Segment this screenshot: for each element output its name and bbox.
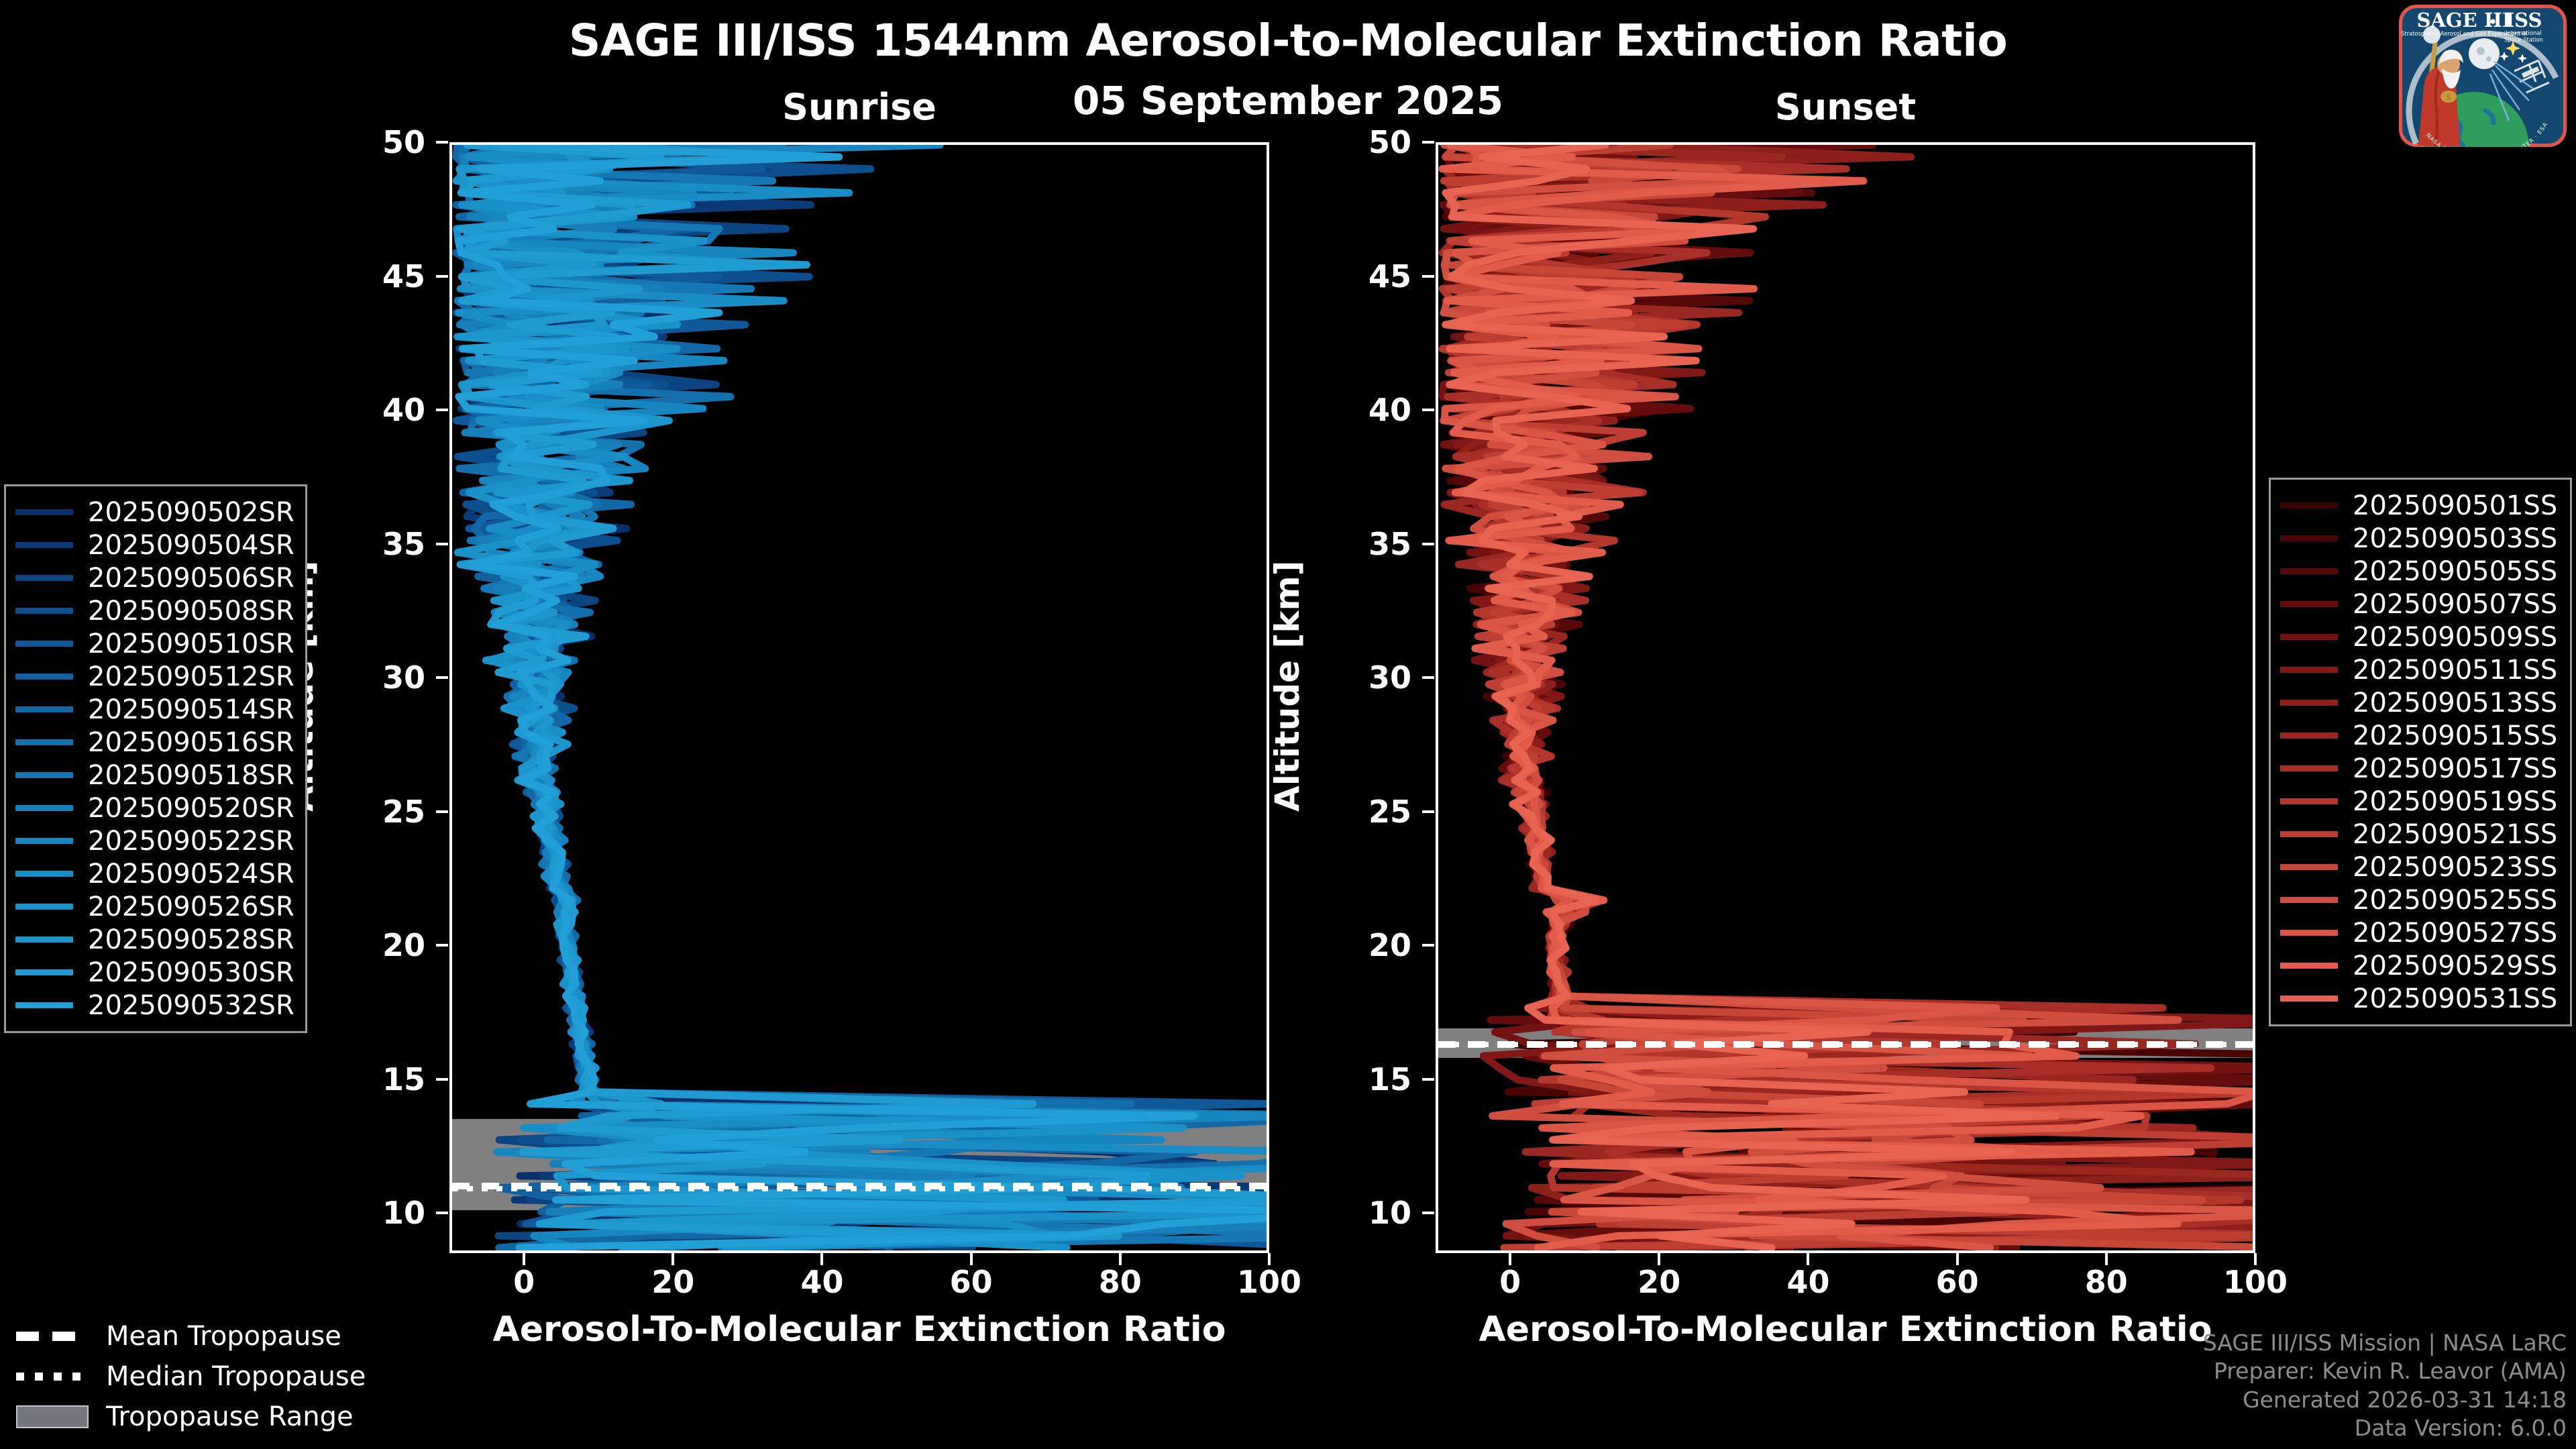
legend-item-2025090521SS[interactable]: 2025090521SS xyxy=(2280,818,2559,851)
y-tick-mark-sunset-35 xyxy=(1422,543,1434,545)
legend-item-2025090528SR[interactable]: 2025090528SR xyxy=(15,923,294,956)
legend-item-2025090507SS[interactable]: 2025090507SS xyxy=(2280,588,2559,621)
legend-sunrise[interactable]: 2025090502SR2025090504SR2025090506SR2025… xyxy=(4,484,307,1033)
legend-item-label: 2025090502SR xyxy=(88,497,294,528)
y-tick-mark-sunrise-45 xyxy=(436,275,448,278)
tropopause-legend-item-1: Median Tropopause xyxy=(16,1356,366,1397)
legend-item-label: 2025090515SS xyxy=(2353,720,2557,751)
panel-title-sunrise: Sunrise xyxy=(449,86,1269,128)
legend-item-label: 2025090524SR xyxy=(88,859,294,890)
y-tick-mark-sunrise-50 xyxy=(436,141,448,144)
legend-item-2025090524SR[interactable]: 2025090524SR xyxy=(15,857,294,890)
x-tick-label-sunrise-40: 40 xyxy=(768,1264,875,1300)
legend-item-2025090517SS[interactable]: 2025090517SS xyxy=(2280,752,2559,785)
x-tick-mark-sunrise-100 xyxy=(1268,1253,1271,1265)
legend-color-swatch xyxy=(15,608,73,614)
legend-item-label: 2025090529SS xyxy=(2353,951,2557,981)
plot-area-sunset xyxy=(1438,145,2253,1250)
legend-item-2025090522SR[interactable]: 2025090522SR xyxy=(15,824,294,857)
legend-item-label: 2025090527SS xyxy=(2353,918,2557,949)
legend-item-label: 2025090522SR xyxy=(88,826,294,857)
legend-color-swatch xyxy=(2280,700,2338,706)
y-tick-mark-sunset-45 xyxy=(1422,275,1434,278)
x-tick-mark-sunrise-60 xyxy=(970,1253,973,1265)
tropopause-legend-item-2: Tropopause Range xyxy=(16,1397,366,1437)
legend-item-label: 2025090510SR xyxy=(88,629,294,659)
median-tropopause-dotted-line xyxy=(16,1373,89,1381)
sage-iii-iss-logo: S NASA LANGLEY RESEARCH CENTER · ESA SAG… xyxy=(2395,3,2571,149)
plot-panel-sunrise xyxy=(449,142,1269,1253)
profile-lines-sunrise xyxy=(452,145,1267,1250)
legend-color-swatch xyxy=(2280,535,2338,541)
y-tick-mark-sunrise-15 xyxy=(436,1078,448,1081)
x-tick-label-sunrise-20: 20 xyxy=(619,1264,727,1300)
legend-item-label: 2025090526SR xyxy=(88,892,294,922)
legend-color-swatch xyxy=(2280,930,2338,936)
page-title: SAGE III/ISS 1544nm Aerosol-to-Molecular… xyxy=(0,15,2576,66)
legend-color-swatch xyxy=(15,772,73,778)
legend-color-swatch xyxy=(15,838,73,844)
legend-item-label: 2025090508SR xyxy=(88,596,294,627)
legend-color-swatch xyxy=(2280,601,2338,607)
legend-item-label: 2025090512SR xyxy=(88,661,294,692)
legend-color-swatch xyxy=(15,509,73,515)
legend-item-label: 2025090519SS xyxy=(2353,786,2557,817)
x-tick-mark-sunset-20 xyxy=(1658,1253,1660,1265)
legend-item-2025090519SS[interactable]: 2025090519SS xyxy=(2280,785,2559,818)
x-tick-label-sunset-100: 100 xyxy=(2202,1264,2309,1300)
legend-item-label: 2025090532SR xyxy=(88,990,294,1021)
legend-color-swatch xyxy=(15,904,73,910)
legend-color-swatch xyxy=(2280,568,2338,574)
legend-color-swatch xyxy=(2280,963,2338,969)
x-tick-mark-sunrise-0 xyxy=(523,1253,525,1265)
tropopause-legend-item-0: Mean Tropopause xyxy=(16,1316,366,1356)
y-tick-mark-sunset-50 xyxy=(1422,141,1434,144)
svg-text:Space Station: Space Station xyxy=(2504,36,2543,43)
legend-color-swatch xyxy=(15,641,73,647)
legend-item-label: 2025090501SS xyxy=(2353,490,2557,521)
legend-color-swatch xyxy=(15,674,73,680)
y-tick-mark-sunrise-20 xyxy=(436,944,448,947)
footer-line-1: Preparer: Kevin R. Leavor (AMA) xyxy=(2203,1357,2567,1385)
legend-item-2025090503SS[interactable]: 2025090503SS xyxy=(2280,522,2559,555)
mean-tropopause-dashed-line xyxy=(16,1332,89,1341)
x-tick-label-sunrise-0: 0 xyxy=(470,1264,578,1300)
y-axis-label-sunset: Altitude [km] xyxy=(1268,560,1307,812)
y-tick-label-sunrise-35: 35 xyxy=(325,526,425,562)
x-tick-label-sunrise-100: 100 xyxy=(1216,1264,1323,1300)
y-tick-mark-sunset-20 xyxy=(1422,944,1434,947)
legend-item-label: 2025090516SR xyxy=(88,727,294,758)
legend-item-2025090501SS[interactable]: 2025090501SS xyxy=(2280,489,2559,522)
y-tick-label-sunrise-50: 50 xyxy=(325,124,425,160)
legend-item-2025090527SS[interactable]: 2025090527SS xyxy=(2280,916,2559,949)
x-tick-label-sunset-20: 20 xyxy=(1605,1264,1713,1300)
x-tick-mark-sunset-80 xyxy=(2105,1253,2108,1265)
tropopause-legend-label: Mean Tropopause xyxy=(106,1321,341,1352)
tropopause-legend-key xyxy=(16,1369,89,1384)
legend-item-2025090523SS[interactable]: 2025090523SS xyxy=(2280,851,2559,883)
legend-color-swatch xyxy=(2280,733,2338,739)
legend-color-swatch xyxy=(2280,667,2338,673)
y-tick-label-sunrise-20: 20 xyxy=(325,927,425,963)
y-tick-label-sunrise-40: 40 xyxy=(325,392,425,428)
y-tick-mark-sunrise-40 xyxy=(436,409,448,411)
legend-item-label: 2025090505SS xyxy=(2353,556,2557,587)
y-tick-mark-sunset-30 xyxy=(1422,676,1434,679)
y-tick-label-sunrise-45: 45 xyxy=(325,258,425,294)
tropopause-range-band xyxy=(16,1405,89,1428)
x-tick-mark-sunset-40 xyxy=(1807,1253,1809,1265)
x-tick-label-sunset-0: 0 xyxy=(1456,1264,1564,1300)
y-tick-label-sunset-25: 25 xyxy=(1311,794,1411,830)
legend-color-swatch xyxy=(15,969,73,975)
y-tick-label-sunset-50: 50 xyxy=(1311,124,1411,160)
x-tick-mark-sunset-60 xyxy=(1956,1253,1959,1265)
x-tick-label-sunset-60: 60 xyxy=(1904,1264,2011,1300)
y-tick-mark-sunrise-25 xyxy=(436,810,448,813)
legend-color-swatch xyxy=(15,805,73,811)
legend-color-swatch xyxy=(2280,765,2338,771)
legend-item-2025090511SS[interactable]: 2025090511SS xyxy=(2280,653,2559,686)
y-tick-mark-sunset-40 xyxy=(1422,409,1434,411)
legend-item-2025090512SR[interactable]: 2025090512SR xyxy=(15,660,294,693)
x-axis-label-sunset: Aerosol-To-Molecular Extinction Ratio xyxy=(1436,1309,2255,1350)
legend-color-swatch xyxy=(2280,897,2338,903)
svg-text:S: S xyxy=(2446,93,2451,102)
y-tick-mark-sunrise-35 xyxy=(436,543,448,545)
y-tick-label-sunset-35: 35 xyxy=(1311,526,1411,562)
legend-color-swatch xyxy=(15,871,73,877)
tropopause-legend-key xyxy=(16,1409,89,1424)
legend-color-swatch xyxy=(2280,634,2338,640)
panel-title-sunset: Sunset xyxy=(1436,86,2255,128)
plot-panel-sunset xyxy=(1436,142,2255,1253)
profile-lines-sunset xyxy=(1438,145,2253,1250)
legend-color-swatch xyxy=(15,706,73,712)
y-tick-mark-sunset-15 xyxy=(1422,1078,1434,1081)
footer-line-3: Data Version: 6.0.0 xyxy=(2203,1414,2567,1442)
legend-item-label: 2025090525SS xyxy=(2353,885,2557,916)
x-axis-label-sunrise: Aerosol-To-Molecular Extinction Ratio xyxy=(449,1309,1269,1350)
legend-item-label: 2025090514SR xyxy=(88,694,294,725)
x-tick-mark-sunset-0 xyxy=(1509,1253,1511,1265)
legend-item-2025090515SS[interactable]: 2025090515SS xyxy=(2280,719,2559,752)
y-tick-label-sunset-20: 20 xyxy=(1311,927,1411,963)
legend-color-swatch xyxy=(15,936,73,943)
x-tick-label-sunset-40: 40 xyxy=(1754,1264,1862,1300)
median-tropopause-line-sunrise xyxy=(452,1186,1267,1191)
legend-item-2025090531SS[interactable]: 2025090531SS xyxy=(2280,982,2559,1015)
y-tick-label-sunset-15: 15 xyxy=(1311,1061,1411,1097)
x-tick-label-sunrise-80: 80 xyxy=(1067,1264,1174,1300)
tropopause-legend-key xyxy=(16,1329,89,1344)
legend-color-swatch xyxy=(15,575,73,581)
x-tick-label-sunrise-60: 60 xyxy=(918,1264,1025,1300)
legend-color-swatch xyxy=(15,739,73,745)
legend-color-swatch xyxy=(15,542,73,548)
legend-item-2025090505SS[interactable]: 2025090505SS xyxy=(2280,555,2559,588)
y-tick-label-sunset-45: 45 xyxy=(1311,258,1411,294)
legend-tropopause: Mean TropopauseMedian TropopauseTropopau… xyxy=(16,1316,366,1437)
y-tick-label-sunset-10: 10 xyxy=(1311,1195,1411,1231)
y-tick-mark-sunset-10 xyxy=(1422,1212,1434,1214)
footer-line-2: Generated 2026-03-31 14:18 xyxy=(2203,1386,2567,1414)
y-tick-label-sunset-30: 30 xyxy=(1311,659,1411,696)
x-tick-label-sunset-80: 80 xyxy=(2053,1264,2160,1300)
legend-item-2025090526SR[interactable]: 2025090526SR xyxy=(15,890,294,923)
y-tick-mark-sunset-25 xyxy=(1422,810,1434,813)
legend-item-2025090516SR[interactable]: 2025090516SR xyxy=(15,726,294,759)
legend-item-label: 2025090507SS xyxy=(2353,589,2557,620)
legend-color-swatch xyxy=(2280,864,2338,870)
y-tick-label-sunrise-30: 30 xyxy=(325,659,425,696)
legend-item-label: 2025090504SR xyxy=(88,530,294,561)
x-tick-mark-sunrise-20 xyxy=(672,1253,674,1265)
legend-item-label: 2025090523SS xyxy=(2353,852,2557,883)
legend-item-2025090532SR[interactable]: 2025090532SR xyxy=(15,989,294,1022)
legend-item-2025090513SS[interactable]: 2025090513SS xyxy=(2280,686,2559,719)
median-tropopause-line-sunset xyxy=(1438,1042,2253,1047)
legend-item-label: 2025090506SR xyxy=(88,563,294,594)
x-tick-mark-sunrise-40 xyxy=(820,1253,823,1265)
legend-color-swatch xyxy=(15,1002,73,1008)
tropopause-legend-label: Tropopause Range xyxy=(106,1401,354,1432)
legend-sunset[interactable]: 2025090501SS2025090503SS2025090505SS2025… xyxy=(2269,478,2572,1026)
legend-item-2025090525SS[interactable]: 2025090525SS xyxy=(2280,883,2559,916)
legend-item-2025090529SS[interactable]: 2025090529SS xyxy=(2280,949,2559,982)
legend-item-label: 2025090530SR xyxy=(88,957,294,988)
legend-item-label: 2025090531SS xyxy=(2353,983,2557,1014)
legend-item-2025090510SR[interactable]: 2025090510SR xyxy=(15,627,294,660)
y-tick-label-sunrise-15: 15 xyxy=(325,1061,425,1097)
legend-item-2025090514SR[interactable]: 2025090514SR xyxy=(15,693,294,726)
legend-item-2025090506SR[interactable]: 2025090506SR xyxy=(15,561,294,594)
legend-item-label: 2025090511SS xyxy=(2353,655,2557,686)
svg-text:ISS: ISS xyxy=(2506,9,2542,32)
y-tick-mark-sunrise-10 xyxy=(436,1212,448,1214)
legend-item-label: 2025090518SR xyxy=(88,760,294,791)
y-tick-label-sunset-40: 40 xyxy=(1311,392,1411,428)
y-tick-label-sunrise-25: 25 xyxy=(325,794,425,830)
legend-item-2025090520SR[interactable]: 2025090520SR xyxy=(15,792,294,824)
legend-color-swatch xyxy=(2280,996,2338,1002)
legend-item-label: 2025090503SS xyxy=(2353,523,2557,554)
legend-item-label: 2025090521SS xyxy=(2353,819,2557,850)
footer-credits: SAGE III/ISS Mission | NASA LaRCPreparer… xyxy=(2203,1329,2567,1442)
legend-item-2025090502SR[interactable]: 2025090502SR xyxy=(15,496,294,529)
legend-item-label: 2025090509SS xyxy=(2353,622,2557,653)
legend-color-swatch xyxy=(2280,831,2338,837)
legend-color-swatch xyxy=(2280,798,2338,804)
legend-item-label: 2025090517SS xyxy=(2353,753,2557,784)
legend-item-2025090504SR[interactable]: 2025090504SR xyxy=(15,529,294,561)
legend-item-label: 2025090513SS xyxy=(2353,688,2557,718)
plot-area-sunrise xyxy=(452,145,1267,1250)
x-tick-mark-sunset-100 xyxy=(2254,1253,2257,1265)
svg-text:International: International xyxy=(2506,30,2541,36)
legend-color-swatch xyxy=(2280,502,2338,508)
svg-text:SAGE III: SAGE III xyxy=(2416,9,2511,32)
y-tick-mark-sunrise-30 xyxy=(436,676,448,679)
legend-item-2025090530SR[interactable]: 2025090530SR xyxy=(15,956,294,989)
legend-item-label: 2025090528SR xyxy=(88,924,294,955)
tropopause-legend-label: Median Tropopause xyxy=(106,1361,366,1392)
y-tick-label-sunrise-10: 10 xyxy=(325,1195,425,1231)
footer-line-0: SAGE III/ISS Mission | NASA LaRC xyxy=(2203,1329,2567,1357)
legend-item-2025090509SS[interactable]: 2025090509SS xyxy=(2280,621,2559,653)
legend-item-2025090518SR[interactable]: 2025090518SR xyxy=(15,759,294,792)
legend-item-2025090508SR[interactable]: 2025090508SR xyxy=(15,594,294,627)
x-tick-mark-sunrise-80 xyxy=(1119,1253,1122,1265)
legend-item-label: 2025090520SR xyxy=(88,793,294,824)
